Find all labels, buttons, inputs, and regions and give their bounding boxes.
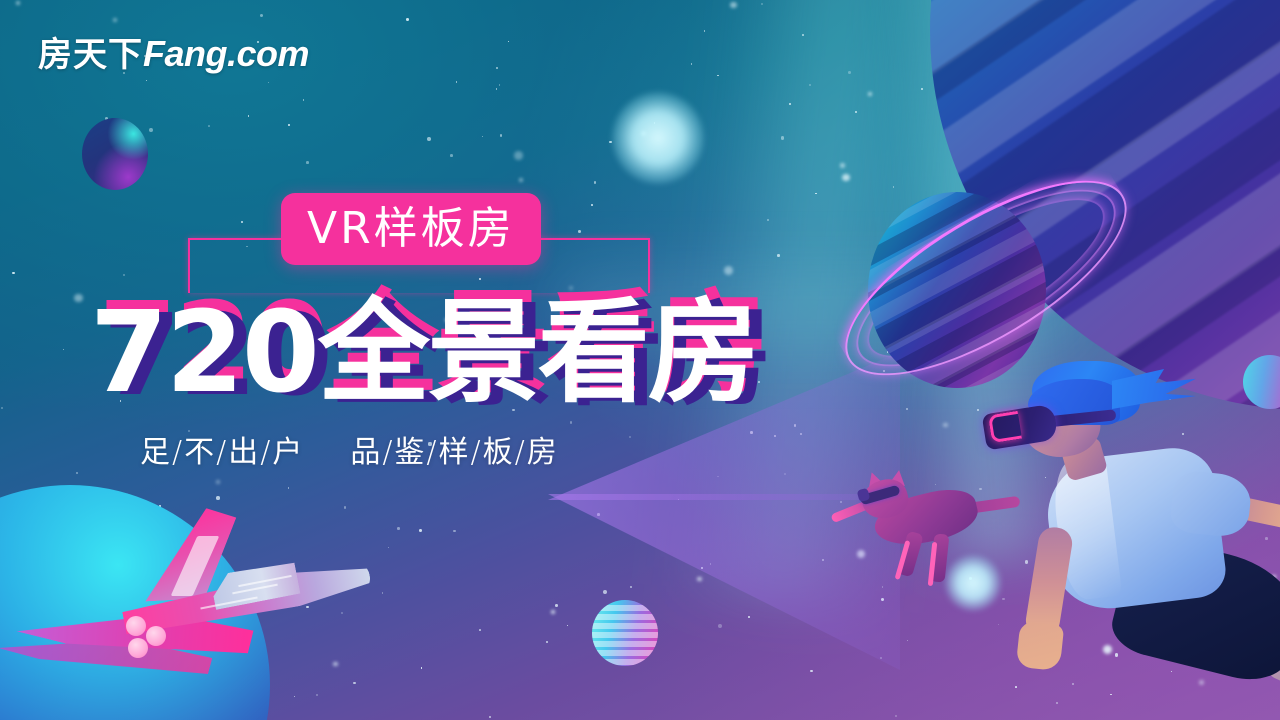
- star-dot: [710, 563, 712, 565]
- star-dot: [748, 616, 750, 618]
- star-dot: [868, 92, 872, 96]
- star-dot: [303, 99, 305, 101]
- star-dot: [453, 530, 456, 533]
- star-dot: [629, 436, 631, 438]
- star-dot: [16, 1, 20, 5]
- star-dot: [450, 154, 453, 157]
- person-left-hand: [1016, 621, 1065, 671]
- star-dot: [508, 41, 510, 43]
- star-dot: [848, 71, 851, 74]
- star-dot: [678, 499, 679, 500]
- star-dot: [609, 141, 612, 144]
- subtitle-left: 足/不/出/户: [140, 438, 304, 468]
- star-dot: [496, 67, 498, 69]
- star-dot: [718, 624, 722, 628]
- shuttle-thruster-1: [126, 616, 146, 636]
- pink-space-shuttle-icon: [60, 490, 390, 710]
- star-dot: [654, 122, 655, 123]
- logo-english-text: Fang.com: [143, 36, 309, 72]
- planet-band: [592, 650, 658, 656]
- striped-sphere-icon: [592, 600, 658, 666]
- star-dot: [479, 629, 481, 631]
- person-sleeve: [1169, 469, 1253, 539]
- star-dot: [1, 407, 3, 409]
- star-dot: [419, 529, 422, 532]
- star-dot: [781, 136, 785, 140]
- star-dot: [697, 577, 702, 582]
- star-dot: [482, 136, 483, 137]
- star-dot: [880, 657, 882, 659]
- star-dot: [74, 294, 82, 302]
- star-dot: [701, 567, 702, 568]
- star-dot: [427, 137, 431, 141]
- star-dot: [578, 230, 581, 233]
- star-dot: [603, 590, 607, 594]
- person-vr-headset-accent: [988, 411, 1022, 443]
- vr-showroom-badge[interactable]: VR样板房: [281, 193, 541, 265]
- star-dot: [691, 63, 692, 64]
- star-dot: [489, 716, 491, 718]
- star-dot: [288, 124, 290, 126]
- star-dot: [597, 513, 600, 516]
- star-dot: [456, 81, 458, 83]
- shuttle-thruster-3: [128, 638, 148, 658]
- small-dark-planet-icon: [82, 118, 148, 190]
- star-dot: [306, 161, 309, 164]
- star-dot: [551, 610, 555, 614]
- star-dot: [519, 178, 523, 182]
- star-dot: [421, 667, 422, 668]
- star-dot: [630, 586, 632, 588]
- star-dot: [921, 88, 923, 90]
- subtitle: 足/不/出/户 品/鉴/样/板/房: [140, 438, 559, 468]
- subtitle-right: 品/鉴/样/板/房: [350, 438, 558, 468]
- shuttle-thruster-2: [146, 626, 166, 646]
- planet-band: [592, 623, 658, 629]
- star-dot: [800, 433, 802, 435]
- star-dot: [149, 128, 153, 132]
- star-dot: [641, 131, 646, 136]
- star-dot: [397, 527, 400, 530]
- star-dot: [822, 559, 824, 561]
- star-dot: [514, 151, 523, 160]
- star-dot: [123, 274, 125, 276]
- planet-band: [592, 605, 658, 611]
- star-dot: [724, 266, 733, 275]
- planet-band: [592, 614, 658, 620]
- star-dot: [246, 246, 248, 248]
- planet-band: [592, 632, 658, 638]
- planet-band: [592, 659, 658, 665]
- star-dot: [761, 3, 763, 5]
- star-dot: [288, 487, 290, 489]
- star-dot: [815, 193, 817, 195]
- star-dot: [704, 30, 706, 32]
- star-dot: [809, 84, 811, 86]
- page-title: 720全景看房 720全景看房 720全景看房: [90, 295, 890, 425]
- star-dot: [784, 473, 786, 475]
- glowing-orb: [612, 92, 704, 184]
- star-dot: [594, 181, 597, 184]
- star-dot: [208, 125, 210, 127]
- star-dot: [802, 34, 804, 36]
- star-dot: [260, 14, 263, 17]
- fang-logo[interactable]: 房天下 Fang.com: [38, 36, 309, 72]
- star-dot: [895, 715, 897, 717]
- star-dot: [767, 219, 769, 221]
- star-dot: [717, 476, 718, 477]
- star-dot: [750, 431, 753, 434]
- star-dot: [248, 115, 249, 116]
- star-dot: [146, 80, 147, 81]
- star-dot: [789, 103, 791, 105]
- star-dot: [774, 435, 776, 437]
- star-dot: [268, 82, 269, 83]
- star-dot: [496, 88, 497, 89]
- star-dot: [555, 604, 558, 607]
- star-dot: [406, 18, 409, 21]
- star-dot: [241, 221, 243, 223]
- star-dot: [840, 501, 842, 503]
- star-dot: [63, 349, 64, 350]
- star-dot: [907, 640, 908, 641]
- planet-band: [592, 641, 658, 647]
- headline-main: 720全景看房: [90, 295, 758, 413]
- star-dot: [591, 204, 593, 206]
- star-dot: [777, 254, 780, 257]
- star-dot: [546, 641, 548, 643]
- star-dot: [881, 598, 884, 601]
- star-dot: [76, 472, 78, 474]
- star-dot: [113, 18, 117, 22]
- star-dot: [567, 625, 568, 626]
- star-dot: [717, 75, 719, 77]
- star-dot: [12, 272, 14, 274]
- star-dot: [499, 84, 501, 86]
- logo-chinese-text: 房天下: [38, 38, 143, 72]
- star-dot: [216, 480, 221, 485]
- star-dot: [188, 430, 190, 432]
- floating-vr-person-icon: [940, 355, 1280, 720]
- vr-promo-banner: 房天下 Fang.com VR样板房 720全景看房 720全景看房 720全景…: [0, 0, 1280, 720]
- star-dot: [855, 111, 857, 113]
- star-dot: [810, 670, 812, 672]
- star-dot: [730, 2, 737, 9]
- star-dot: [500, 134, 503, 137]
